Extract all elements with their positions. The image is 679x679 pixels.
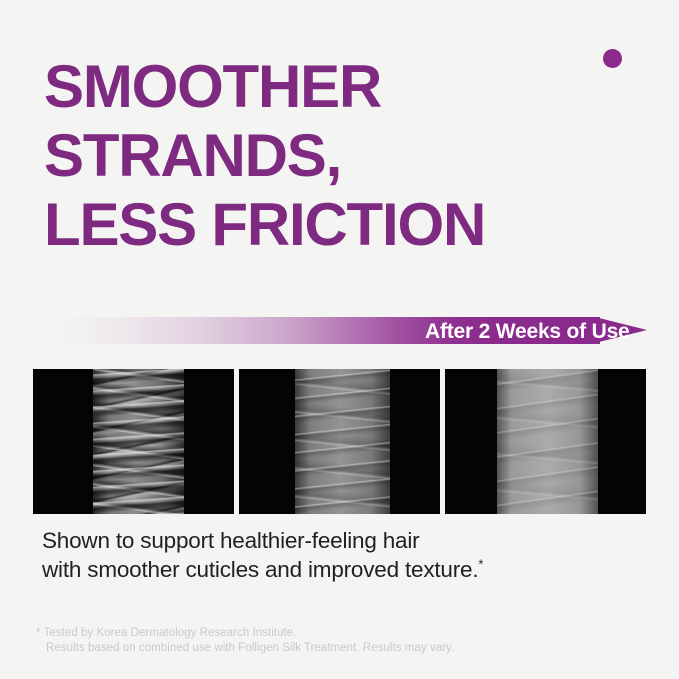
hair-strand-image-2 bbox=[295, 369, 389, 514]
micrograph-panel-group bbox=[33, 369, 646, 514]
headline-line-3: LESS FRICTION bbox=[44, 190, 644, 259]
micrograph-panel-3 bbox=[445, 369, 646, 514]
page-title: SMOOTHER STRANDS, LESS FRICTION bbox=[44, 52, 644, 259]
footnote-line-1: Tested by Korea Dermatology Research Ins… bbox=[44, 627, 297, 639]
promotional-graphic: SMOOTHER STRANDS, LESS FRICTION After 2 … bbox=[0, 0, 679, 679]
headline-line-2: STRANDS, bbox=[44, 121, 644, 190]
hair-strand-image-3 bbox=[497, 369, 598, 514]
micrograph-panel-1 bbox=[33, 369, 234, 514]
body-line-2: with smoother cuticles and improved text… bbox=[42, 557, 478, 582]
arrow-label: After 2 Weeks of Use bbox=[425, 321, 630, 342]
footnote-marker: * bbox=[36, 627, 41, 639]
hair-strand-image-1 bbox=[93, 369, 183, 514]
body-footnote-marker: * bbox=[478, 557, 483, 572]
footnote-line-2: Results based on combined use with Folli… bbox=[36, 641, 656, 656]
body-line-1: Shown to support healthier-feeling hair bbox=[42, 526, 642, 555]
body-copy: Shown to support healthier-feeling hair … bbox=[42, 526, 642, 584]
footnote: * Tested by Korea Dermatology Research I… bbox=[36, 626, 656, 656]
body-line-2-wrap: with smoother cuticles and improved text… bbox=[42, 555, 642, 584]
headline-line-1: SMOOTHER bbox=[44, 52, 644, 121]
micrograph-panel-2 bbox=[239, 369, 440, 514]
footnote-line-1-wrap: * Tested by Korea Dermatology Research I… bbox=[36, 626, 656, 641]
progress-arrow-banner: After 2 Weeks of Use bbox=[33, 303, 647, 357]
